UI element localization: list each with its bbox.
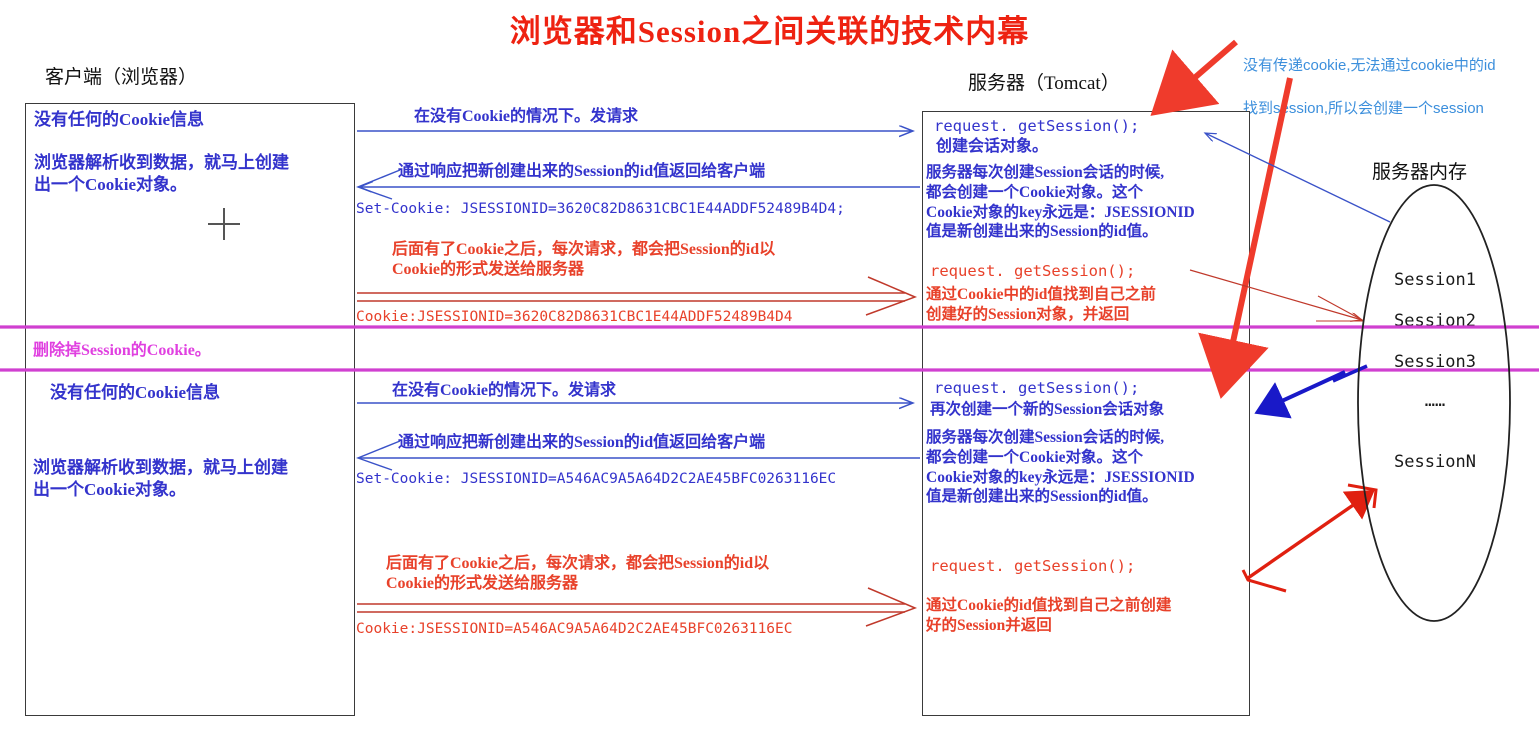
exchange-top-response-label: 通过响应把新创建出来的Session的id值返回给客户端 [398, 162, 765, 182]
memory-session-2: Session2 [1355, 311, 1515, 331]
exchange-top-cookie-header: Cookie:JSESSIONID=3620C82D8631CBC1E44ADD… [356, 308, 793, 327]
server-bottom-call-2: request. getSession(); [930, 557, 1135, 577]
exchange-top-later-note: 后面有了Cookie之后，每次请求，都会把Session的id以 Cookie的… [392, 240, 775, 281]
memory-session-ellipsis: …… [1355, 391, 1515, 411]
exchange-top-set-cookie: Set-Cookie: JSESSIONID=3620C82D8631CBC1E… [356, 200, 845, 219]
annotation-arrow-top-red [1155, 42, 1236, 112]
server-top-call-1: request. getSession(); [934, 117, 1139, 137]
server-top-create-note: 服务器每次创建Session会话的时候, 都会创建一个Cookie对象。这个 C… [926, 163, 1195, 242]
connector-red-session-n [1243, 485, 1376, 591]
client-bottom-parse-create: 浏览器解析收到数据，就马上创建 出一个Cookie对象。 [33, 457, 288, 501]
memory-caption: 服务器内存 [1372, 157, 1467, 184]
server-bottom-call-1: request. getSession(); [934, 379, 1139, 399]
server-top-call-2: request. getSession(); [930, 262, 1135, 282]
exchange-bottom-set-cookie: Set-Cookie: JSESSIONID=A546AC9A5A64D2C2A… [356, 470, 836, 489]
server-top-call-1-desc: 创建会话对象。 [936, 137, 1048, 157]
memory-session-1: Session1 [1355, 270, 1515, 290]
server-bottom-call-1-desc: 再次创建一个新的Session会话对象 [930, 400, 1164, 420]
exchange-bottom-response-label: 通过响应把新创建出来的Session的id值返回给客户端 [398, 433, 765, 453]
annotation-note: 没有传递cookie,无法通过cookie中的id 找到session,所以会创… [1243, 33, 1533, 142]
server-caption: 服务器（Tomcat） [968, 68, 1120, 95]
memory-session-3: Session3 [1355, 352, 1515, 372]
client-caption: 客户端（浏览器） [45, 62, 197, 89]
exchange-bottom-request-label: 在没有Cookie的情况下。发请求 [392, 381, 616, 401]
exchange-bottom-later-note: 后面有了Cookie之后，每次请求，都会把Session的id以 Cookie的… [386, 554, 769, 595]
client-bottom-no-cookie: 没有任何的Cookie信息 [50, 382, 220, 404]
client-top-parse-create: 浏览器解析收到数据，就马上创建 出一个Cookie对象。 [34, 152, 289, 196]
client-top-no-cookie: 没有任何的Cookie信息 [34, 109, 204, 131]
server-bottom-create-note: 服务器每次创建Session会话的时候, 都会创建一个Cookie对象。这个 C… [926, 428, 1195, 507]
connector-blue-session3 [1258, 366, 1367, 412]
client-delete-cookie: 删除掉Session的Cookie。 [33, 341, 211, 361]
memory-session-n: SessionN [1355, 452, 1515, 472]
annotation-line-2: 找到session,所以会创建一个session [1243, 98, 1533, 120]
server-bottom-call-2-desc: 通过Cookie的id值找到自己之前创建 好的Session并返回 [926, 596, 1171, 636]
server-top-call-2-desc: 通过Cookie中的id值找到自己之前 创建好的Session对象，并返回 [926, 285, 1156, 325]
exchange-bottom-cookie-header: Cookie:JSESSIONID=A546AC9A5A64D2C2AE45BF… [356, 620, 793, 639]
exchange-top-request-label: 在没有Cookie的情况下。发请求 [414, 107, 638, 127]
annotation-line-1: 没有传递cookie,无法通过cookie中的id [1243, 55, 1533, 77]
